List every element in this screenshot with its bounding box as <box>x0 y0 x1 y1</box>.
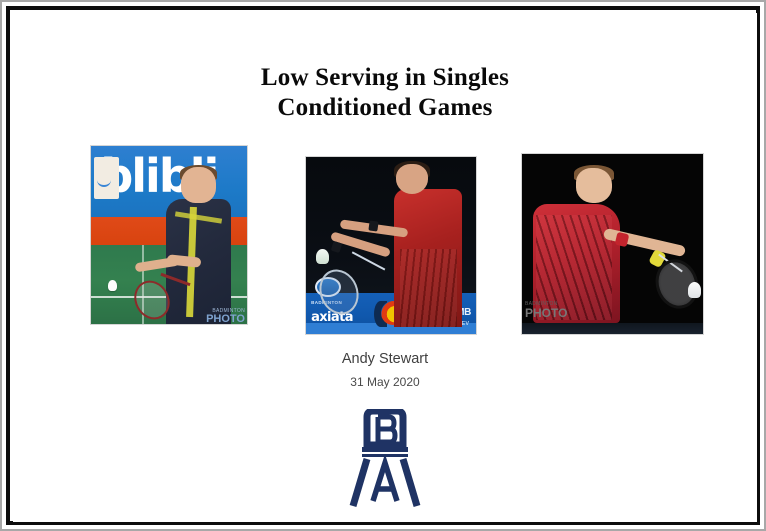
photo-male-player-red: BADMINTON PHOTO <box>521 153 704 335</box>
page-title: Low Serving in Singles Conditioned Games <box>13 63 757 123</box>
author-block: Andy Stewart 31 May 2020 <box>13 349 757 391</box>
photo3-watermark-large: PHOTO <box>525 309 567 318</box>
title-line-2: Conditioned Games <box>13 93 757 123</box>
logo-container <box>13 409 757 509</box>
photo1-player-head <box>181 167 215 203</box>
slide-canvas: Low Serving in Singles Conditioned Games… <box>13 13 757 522</box>
photo1-watermark-large: PHOTO <box>206 315 245 323</box>
photo3-floor <box>522 323 703 334</box>
photo-male-player-blibli: blibli BADMINTON PHOTO <box>90 145 248 325</box>
badminton-academy-logo-icon <box>345 409 425 509</box>
slide-outer-frame: Low Serving in Singles Conditioned Games… <box>0 0 766 531</box>
title-line-1: Low Serving in Singles <box>13 63 757 93</box>
photo1-watermark: BADMINTON PHOTO <box>206 307 245 323</box>
photo1-shuttlecock <box>108 280 117 291</box>
author-name: Andy Stewart <box>13 349 757 369</box>
photo1-banner-smile-icon <box>97 169 111 187</box>
photo-female-player-axiata: BADMINTON axiata CIMB DEV <box>305 156 477 335</box>
presentation-date: 31 May 2020 <box>13 373 757 391</box>
photo2-player-wristband-upper <box>368 220 378 231</box>
photo2-shuttlecock <box>316 249 329 264</box>
photo3-watermark: BADMINTON PHOTO <box>525 300 567 318</box>
photo3-player-head <box>576 168 612 202</box>
photo3-shuttlecock <box>688 282 701 298</box>
photo2-player-dress-folds <box>400 249 458 327</box>
